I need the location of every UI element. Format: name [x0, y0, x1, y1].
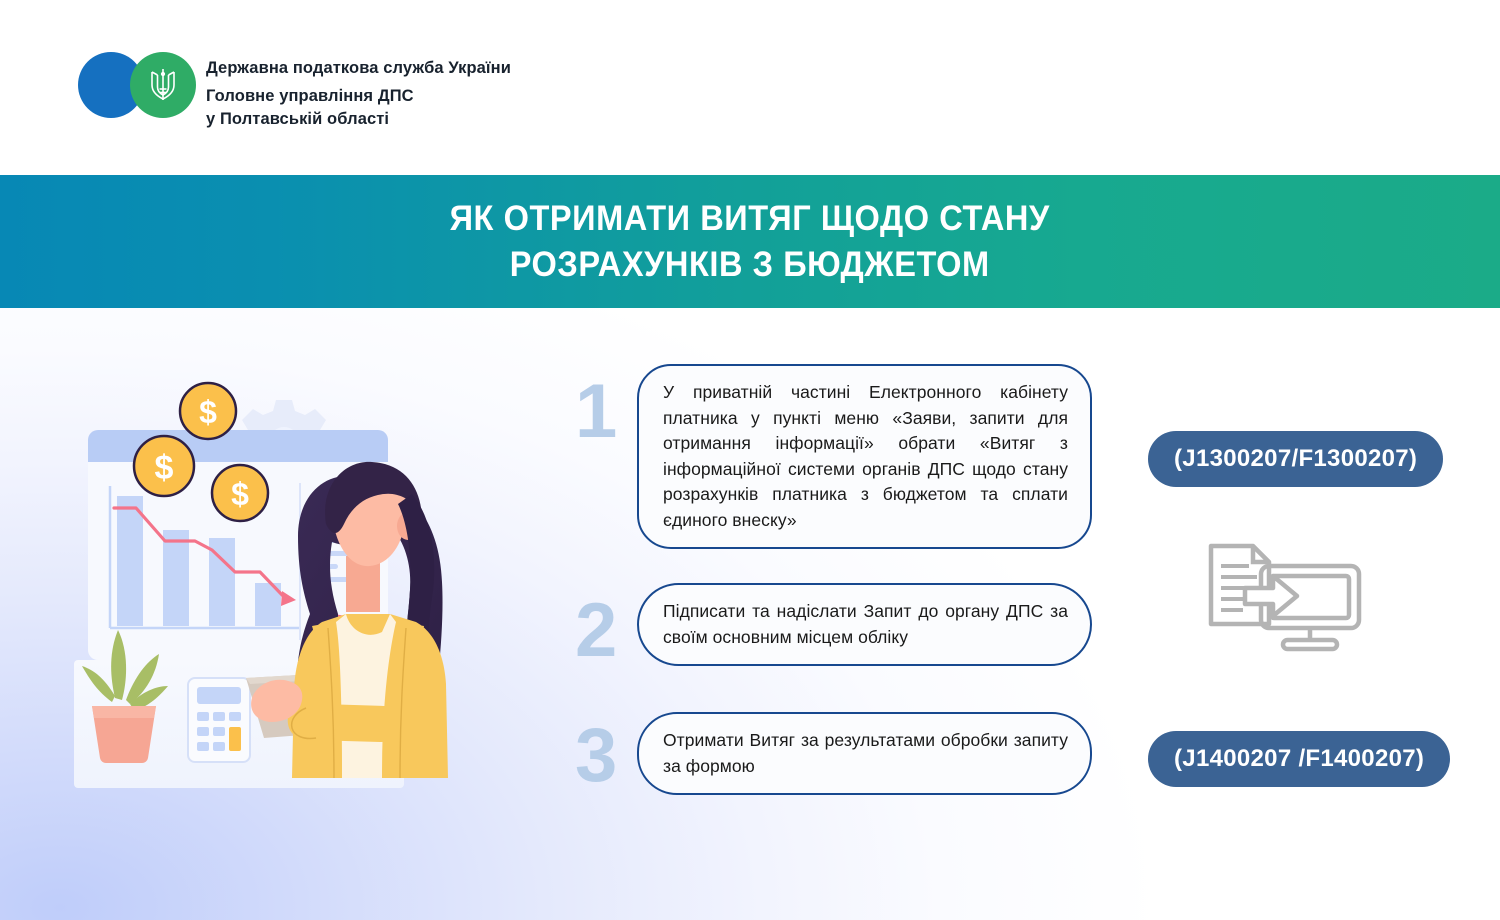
step-2-number: 2	[575, 583, 637, 669]
step-3-bubble: Отримати Витяг за результатами обробки з…	[637, 712, 1092, 795]
header: Державна податкова служба України Головн…	[0, 0, 1500, 175]
step-3: 3 Отримати Витяг за результатами обробки…	[575, 712, 1092, 795]
step-2: 2 Підписати та надіслати Запит до органу…	[575, 583, 1092, 669]
step-1-bubble: У приватній частині Електронного кабінет…	[637, 364, 1092, 549]
title-banner: ЯК ОТРИМАТИ ВИТЯГ ЩОДО СТАНУ РОЗРАХУНКІВ…	[0, 175, 1500, 308]
org-line-3: у Полтавській області	[206, 108, 511, 131]
step-1-number: 1	[575, 364, 637, 450]
step-1-text: У приватній частині Електронного кабінет…	[663, 380, 1068, 533]
logo-circles	[78, 52, 196, 118]
step-2-bubble: Підписати та надіслати Запит до органу Д…	[637, 583, 1092, 666]
form-code-badge-1: (J1300207/F1300207)	[1148, 431, 1443, 487]
ukraine-trident-icon	[148, 65, 178, 105]
organization-name: Державна податкова служба України Головн…	[206, 52, 511, 131]
step-3-text: Отримати Витяг за результатами обробки з…	[663, 728, 1068, 779]
org-line-1: Державна податкова служба України	[206, 57, 511, 80]
page-title: ЯК ОТРИМАТИ ВИТЯГ ЩОДО СТАНУ РОЗРАХУНКІВ…	[450, 196, 1050, 288]
step-3-number: 3	[575, 712, 637, 794]
step-2-text: Підписати та надіслати Запит до органу Д…	[663, 599, 1068, 650]
org-line-2: Головне управління ДПС	[206, 85, 511, 108]
organization-logo-block: Державна податкова служба України Головн…	[78, 52, 511, 131]
content-area: $ $ $	[0, 308, 1500, 920]
document-to-monitor-transfer-icon	[1205, 540, 1365, 655]
infographic-page: Державна податкова служба України Головн…	[0, 0, 1500, 920]
arrow-right-icon	[1245, 576, 1297, 616]
step-1: 1 У приватній частині Електронного кабін…	[575, 364, 1092, 549]
green-circle-icon	[130, 52, 196, 118]
form-code-badge-2: (J1400207 /F1400207)	[1148, 731, 1450, 787]
